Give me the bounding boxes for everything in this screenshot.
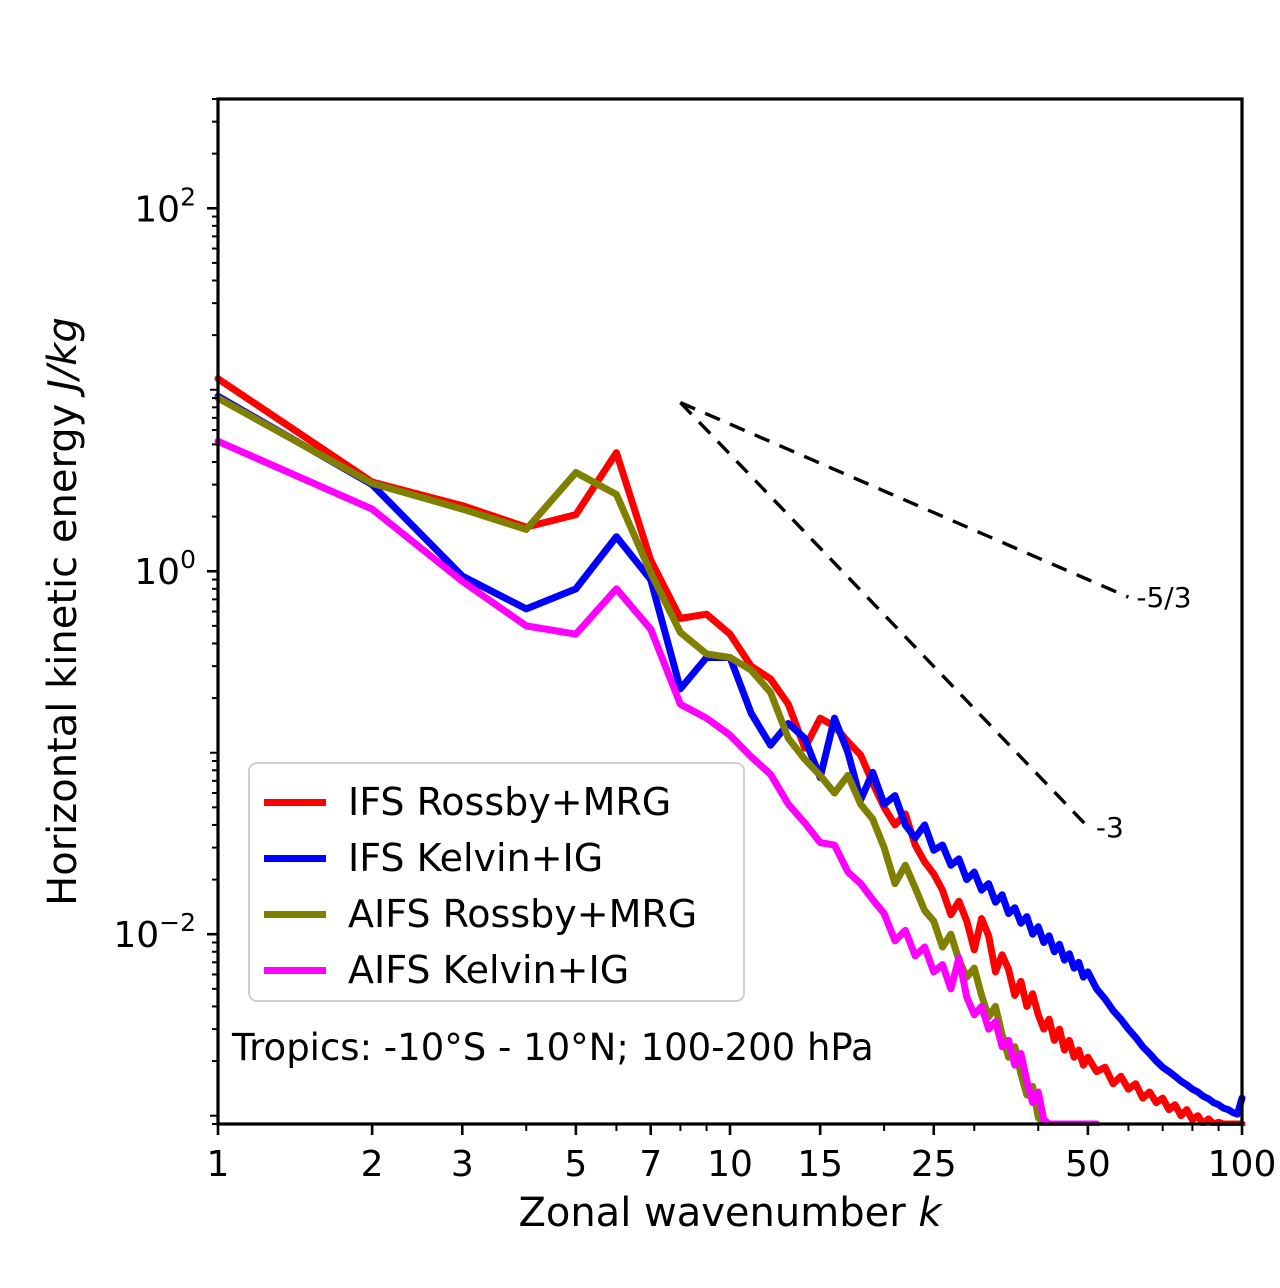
legend-item-aifs-rossby-mrg[interactable]: AIFS Rossby+MRG [264, 886, 697, 942]
x-axis-label: Zonal wavenumber k [518, 1190, 943, 1236]
ytick-label-10^0: 100 [134, 545, 196, 593]
series-line-ifs-rossby-mrg [218, 379, 1242, 1124]
xtick-label-7: 7 [639, 1144, 662, 1185]
above-axis-mask [0, 0, 1280, 99]
xtick-label-100: 100 [1208, 1144, 1277, 1185]
xtick-label-10: 10 [707, 1144, 753, 1185]
legend-swatch-icon [264, 911, 326, 918]
legend-item-ifs-kelvin-ig[interactable]: IFS Kelvin+IG [264, 830, 603, 886]
legend-item-ifs-rossby-mrg[interactable]: IFS Rossby+MRG [264, 774, 671, 830]
legend-item-label: IFS Rossby+MRG [348, 783, 671, 821]
slope-label-3: -3 [1096, 811, 1124, 844]
xtick-label-2: 2 [361, 1144, 384, 1185]
legend-item-label: AIFS Kelvin+IG [348, 951, 629, 989]
y-axis-label: Horizontal kinetic energy J/kg [40, 317, 86, 906]
legend-swatch-icon [264, 855, 326, 862]
slope-label-53: -5/3 [1136, 581, 1191, 614]
ytick-label-10^2: 102 [134, 182, 196, 230]
series-line-ifs-kelvin-ig [218, 396, 1242, 1114]
legend-swatch-icon [264, 799, 326, 806]
region-annotation: Tropics: -10°S - 10°N; 100-200 hPa [232, 1026, 874, 1069]
legend-item-label: IFS Kelvin+IG [348, 839, 603, 877]
legend-item-aifs-kelvin-ig[interactable]: AIFS Kelvin+IG [264, 942, 629, 998]
xtick-label-25: 25 [911, 1144, 957, 1185]
xtick-label-50: 50 [1065, 1144, 1111, 1185]
legend-item-label: AIFS Rossby+MRG [348, 895, 697, 933]
plot-area: -5/3-3123571015255010010210010−2Zonal wa… [0, 0, 1280, 1288]
xtick-label-5: 5 [564, 1144, 587, 1185]
ytick-label-10^-2: 10−2 [113, 908, 196, 956]
legend-swatch-icon [264, 967, 326, 974]
legend: IFS Rossby+MRGIFS Kelvin+IGAIFS Rossby+M… [248, 762, 745, 1002]
xtick-label-1: 1 [207, 1144, 230, 1185]
figure-canvas: HKE: 03/08/2025 00 UTC + 096 hrs -5/3-31… [0, 0, 1280, 1288]
xtick-label-3: 3 [451, 1144, 474, 1185]
reference-slope-line-53 [680, 403, 1128, 597]
xtick-label-15: 15 [797, 1144, 843, 1185]
